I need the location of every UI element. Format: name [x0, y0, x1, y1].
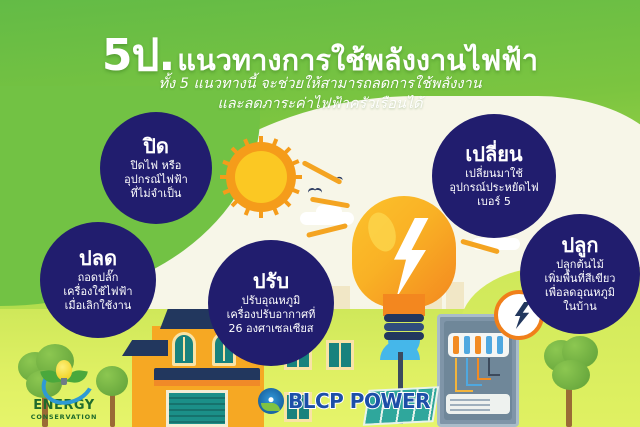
tip-heading: ปลด	[79, 247, 117, 270]
tip-line: ปรับอุณหภูมิ	[227, 294, 316, 308]
tip-line: ปลูกต้นไม้	[545, 258, 616, 272]
house-window-square	[326, 340, 354, 370]
tip-line: เครื่องปรับอากาศที่	[227, 308, 316, 322]
tip-circle-pid[interactable]: ปิด ปิดไฟ หรือ อุปกรณ์ไฟฟ้า ที่ไม่จำเป็น	[100, 112, 212, 224]
tip-line: ปิดไฟ หรือ	[124, 159, 188, 173]
tip-heading: ปิด	[143, 135, 169, 158]
tip-line: เปลี่ยนมาใช้	[449, 167, 538, 181]
tip-circle-plian[interactable]: เปลี่ยน เปลี่ยนมาใช้ อุปกรณ์ประหยัดไฟ เบ…	[432, 114, 556, 238]
panel-foot-line	[450, 409, 490, 411]
energy-logo-mark	[41, 358, 87, 398]
tip-line: เมื่อเลิกใช้งาน	[63, 299, 132, 313]
lightbulb-icon	[56, 360, 72, 380]
energy-conservation-logo: ENERGY CONSERVATION	[14, 358, 114, 422]
tip-line: ที่ไม่จำเป็น	[124, 187, 188, 201]
energy-logo-subtitle: CONSERVATION	[14, 413, 114, 421]
tip-line: อุปกรณ์ประหยัดไฟ	[449, 181, 538, 195]
panel-wire	[488, 358, 500, 376]
tip-line: ในบ้าน	[545, 300, 616, 314]
breaker-switch	[453, 336, 459, 354]
blcp-power-logo: BLCP POWER	[258, 388, 430, 414]
breaker-switch	[486, 336, 492, 354]
bulb-base-ring	[384, 323, 424, 331]
breaker-switch	[475, 336, 481, 354]
tip-heading: เปลี่ยน	[465, 143, 522, 166]
tip-circle-plod[interactable]: ปลด ถอดปลั๊ก เครื่องใช้ไฟฟ้า เมื่อเลิกใช…	[40, 222, 156, 338]
tip-body: เปลี่ยนมาใช้ อุปกรณ์ประหยัดไฟ เบอร์ 5	[449, 167, 538, 209]
tip-body: ปรับอุณหภูมิ เครื่องปรับอากาศที่ 26 องศา…	[227, 294, 316, 336]
house-awning-trim	[154, 380, 260, 386]
blcp-logo-text: BLCP POWER	[288, 389, 430, 413]
blcp-logo-mark	[258, 388, 284, 414]
page-subtitle: ทั้ง 5 แนวทางนี้ จะช่วยให้สามารถลดการใช้…	[0, 74, 640, 114]
house-window-arched	[172, 332, 196, 366]
title-rest: แนวทางการใช้พลังงานไฟฟ้า	[177, 43, 538, 77]
tip-line: ถอดปลั๊ก	[63, 271, 132, 285]
cloud-illustration	[316, 205, 342, 219]
breaker-switch	[497, 336, 503, 354]
house-garage-door	[166, 390, 228, 427]
sun-icon	[222, 138, 300, 216]
infographic-poster: 5ป.แนวทางการใช้พลังงานไฟฟ้า ทั้ง 5 แนวทา…	[0, 0, 640, 427]
subtitle-line-2: และลดภาระค่าไฟฟ้าครัวเรือนได้	[0, 94, 640, 114]
panel-foot-line	[450, 399, 490, 401]
bulb-base-ring	[384, 314, 424, 322]
tip-line: 26 องศาเซลเซียส	[227, 322, 316, 336]
bird-illustration	[308, 188, 322, 195]
tip-body: ปิดไฟ หรือ อุปกรณ์ไฟฟ้า ที่ไม่จำเป็น	[124, 159, 188, 201]
tree-foliage	[552, 360, 590, 390]
tip-line: เพื่อลดอุณหภูมิ	[545, 286, 616, 300]
tip-circle-pluk[interactable]: ปลูก ปลูกต้นไม้ เพิ่มพื้นที่สีเขียว เพื่…	[520, 214, 640, 334]
bulb-neck	[383, 294, 425, 316]
tip-line: อุปกรณ์ไฟฟ้า	[124, 173, 188, 187]
tip-body: ถอดปลั๊ก เครื่องใช้ไฟฟ้า เมื่อเลิกใช้งาน	[63, 271, 132, 313]
breaker-switch	[464, 336, 470, 354]
tip-line: เครื่องใช้ไฟฟ้า	[63, 285, 132, 299]
tip-heading: ปลูก	[561, 234, 598, 257]
tip-line: เบอร์ 5	[449, 195, 538, 209]
sun-core	[235, 151, 287, 203]
subtitle-line-1: ทั้ง 5 แนวทางนี้ จะช่วยให้สามารถลดการใช้…	[0, 74, 640, 94]
tip-circle-prap[interactable]: ปรับ ปรับอุณหภูมิ เครื่องปรับอากาศที่ 26…	[208, 240, 334, 366]
panel-foot-line	[450, 404, 490, 406]
tip-heading: ปรับ	[253, 270, 289, 293]
tip-line: เพิ่มพื้นที่สีเขียว	[545, 272, 616, 286]
tip-body: ปลูกต้นไม้ เพิ่มพื้นที่สีเขียว เพื่อลดอุ…	[545, 258, 616, 314]
bulb-base-ring	[384, 332, 424, 340]
